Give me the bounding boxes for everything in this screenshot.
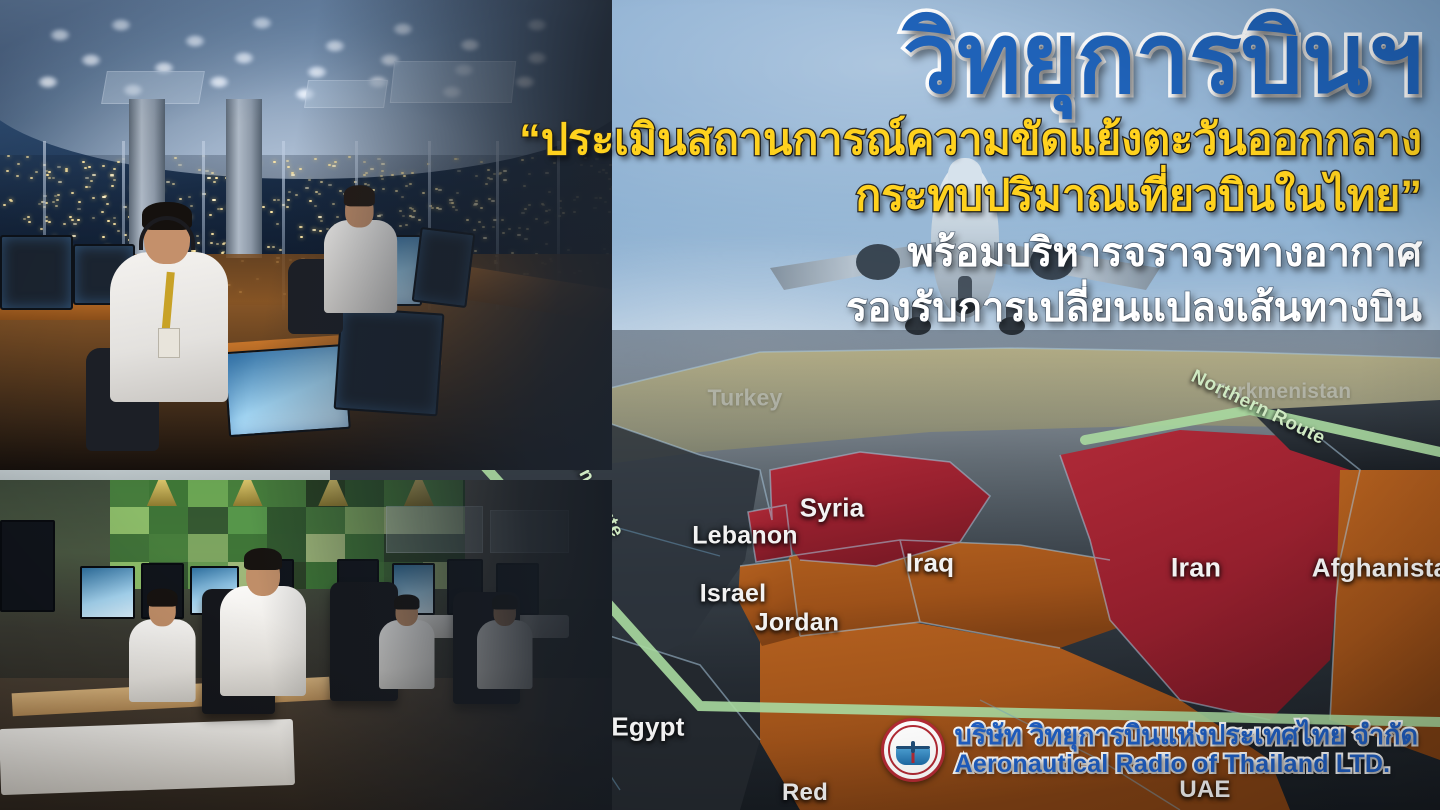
company-name-thai: บริษัท วิทยุการบินแห่งประเทศไทย จำกัด — [955, 721, 1418, 751]
photo-area-control-centre-operations-room — [0, 480, 612, 810]
subtitle-line-2: รองรับการเปลี่ยนแปลงเส้นทางบิน — [422, 284, 1422, 334]
map-label-egypt: Egypt — [611, 712, 684, 743]
map-label-syria: Syria — [800, 493, 865, 524]
subtitle-line-1: พร้อมบริหารจราจรทางอากาศ — [422, 229, 1422, 279]
map-label-afghanistan: Afghanistan — [1312, 553, 1440, 584]
aerothai-seal-logo — [881, 718, 945, 782]
poster-canvas: GreeceTurkeySyriaLebanonIsraelJordanIraq… — [0, 0, 1440, 810]
map-label-iraq: Iraq — [906, 548, 954, 579]
map-label-jordan: Jordan — [755, 609, 840, 638]
map-label-lebanon: Lebanon — [692, 522, 798, 551]
company-name-english: Aeronautical Radio of Thailand LTD. — [955, 750, 1418, 779]
page-title: วิทยุการบินฯ — [422, 8, 1422, 110]
quote-line-1: “ประเมินสถานการณ์ความขัดแย้งตะวันออกกลาง — [422, 114, 1422, 166]
brand-lockup: บริษัท วิทยุการบินแห่งประเทศไทย จำกัด Ae… — [881, 718, 1418, 782]
map-label-turkey: Turkey — [708, 385, 783, 412]
map-label-israel: Israel — [700, 580, 767, 609]
map-label-red: Red — [782, 779, 828, 807]
map-label-iran: Iran — [1171, 553, 1221, 584]
headline-block: วิทยุการบินฯ “ประเมินสถานการณ์ความขัดแย้… — [422, 8, 1422, 334]
quote-line-2: กระทบปริมาณเที่ยวบินในไทย” — [422, 170, 1422, 222]
